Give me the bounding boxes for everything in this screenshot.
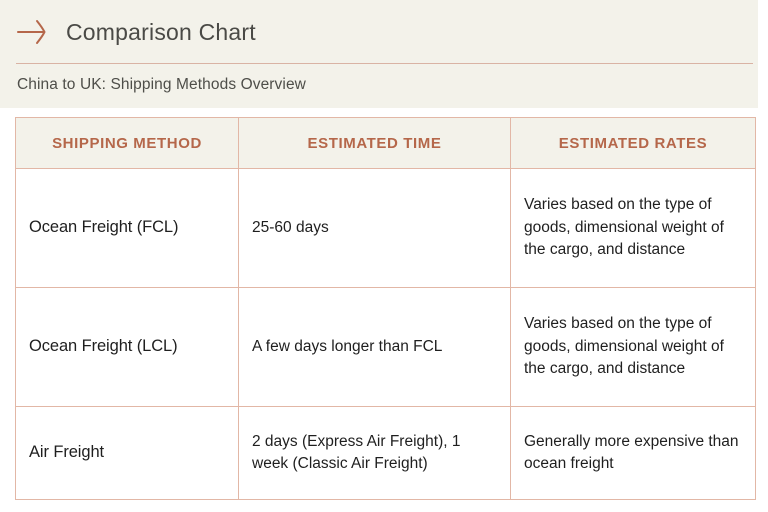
table-header-row: SHIPPING METHOD ESTIMATED TIME ESTIMATED… — [16, 118, 756, 169]
cell-estimated-time: 2 days (Express Air Freight), 1 week (Cl… — [239, 407, 511, 500]
page-title: Comparison Chart — [66, 21, 256, 44]
shipping-method-value: Ocean Freight (FCL) — [16, 210, 238, 246]
estimated-time-value: 2 days (Express Air Freight), 1 week (Cl… — [239, 425, 510, 482]
estimated-time-value: 25-60 days — [239, 211, 510, 245]
cell-shipping-method: Ocean Freight (FCL) — [16, 169, 239, 288]
column-header-estimated-time: ESTIMATED TIME — [239, 118, 511, 169]
comparison-chart-page: Comparison Chart China to UK: Shipping M… — [0, 0, 768, 512]
cell-estimated-time: A few days longer than FCL — [239, 288, 511, 407]
column-header-shipping-method: SHIPPING METHOD — [16, 118, 239, 169]
cell-shipping-method: Air Freight — [16, 407, 239, 500]
table-header: SHIPPING METHOD ESTIMATED TIME ESTIMATED… — [16, 118, 756, 169]
table-row: Air Freight 2 days (Express Air Freight)… — [16, 407, 756, 500]
cell-shipping-method: Ocean Freight (LCL) — [16, 288, 239, 407]
column-header-estimated-rates: ESTIMATED RATES — [511, 118, 756, 169]
table-row: Ocean Freight (FCL) 25-60 days Varies ba… — [16, 169, 756, 288]
estimated-rates-value: Generally more expensive than ocean frei… — [511, 425, 755, 482]
cell-estimated-time: 25-60 days — [239, 169, 511, 288]
estimated-rates-value: Varies based on the type of goods, dimen… — [511, 188, 755, 267]
shipping-method-value: Ocean Freight (LCL) — [16, 329, 238, 365]
page-banner: Comparison Chart China to UK: Shipping M… — [0, 0, 758, 108]
table-row: Ocean Freight (LCL) A few days longer th… — [16, 288, 756, 407]
cell-estimated-rates: Generally more expensive than ocean frei… — [511, 407, 756, 500]
cell-estimated-rates: Varies based on the type of goods, dimen… — [511, 288, 756, 407]
banner-title-row: Comparison Chart — [16, 10, 256, 54]
estimated-rates-value: Varies based on the type of goods, dimen… — [511, 307, 755, 386]
table-body: Ocean Freight (FCL) 25-60 days Varies ba… — [16, 169, 756, 500]
comparison-table: SHIPPING METHOD ESTIMATED TIME ESTIMATED… — [15, 117, 756, 500]
estimated-time-value: A few days longer than FCL — [239, 330, 510, 364]
arrow-right-icon — [16, 18, 52, 46]
shipping-method-value: Air Freight — [16, 435, 238, 471]
banner-divider — [16, 63, 753, 64]
page-subtitle: China to UK: Shipping Methods Overview — [17, 76, 306, 95]
cell-estimated-rates: Varies based on the type of goods, dimen… — [511, 169, 756, 288]
